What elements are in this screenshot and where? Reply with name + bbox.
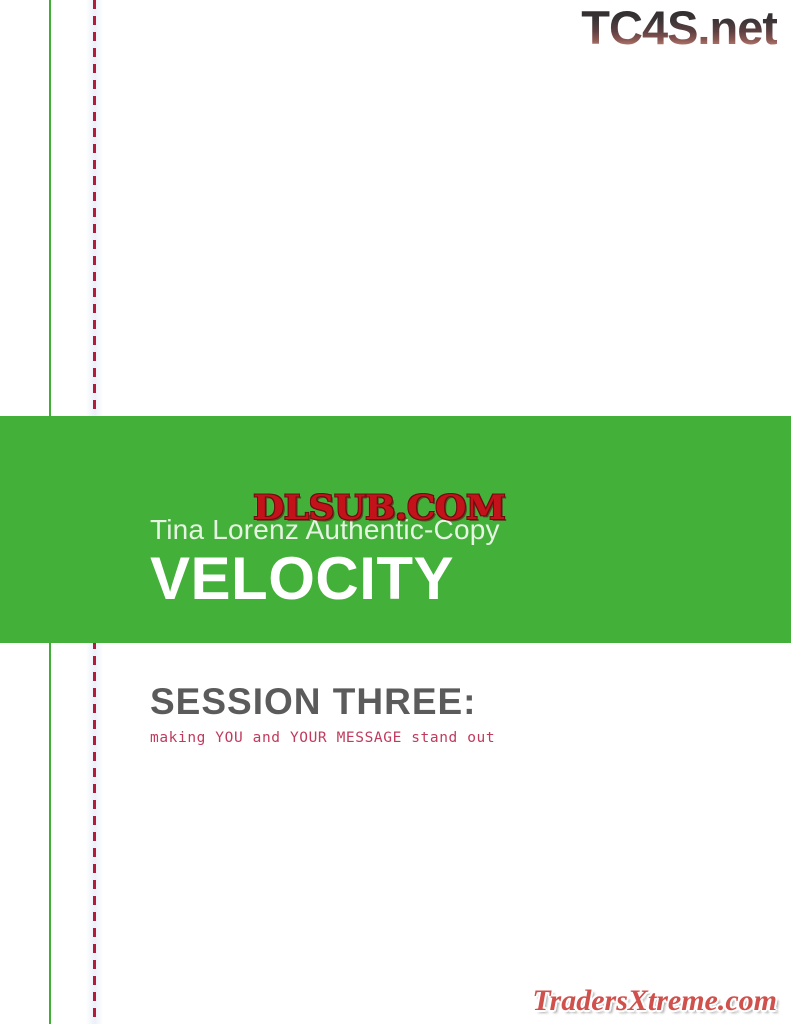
brand-logo-bottom-tradersxtreme: TradersXtreme.com [532, 984, 777, 1018]
dlsub-watermark: DLSUB.COM [253, 488, 505, 528]
session-heading: SESSION THREE: [150, 681, 477, 723]
session-subheading: making YOU and YOUR MESSAGE stand out [150, 730, 495, 746]
brand-logo-top-tc4s: TC4S.net [581, 4, 777, 51]
document-page: TC4S.net Tina Lorenz Authentic-Copy DLSU… [0, 0, 791, 1024]
page-title-velocity: VELOCITY [150, 546, 454, 612]
